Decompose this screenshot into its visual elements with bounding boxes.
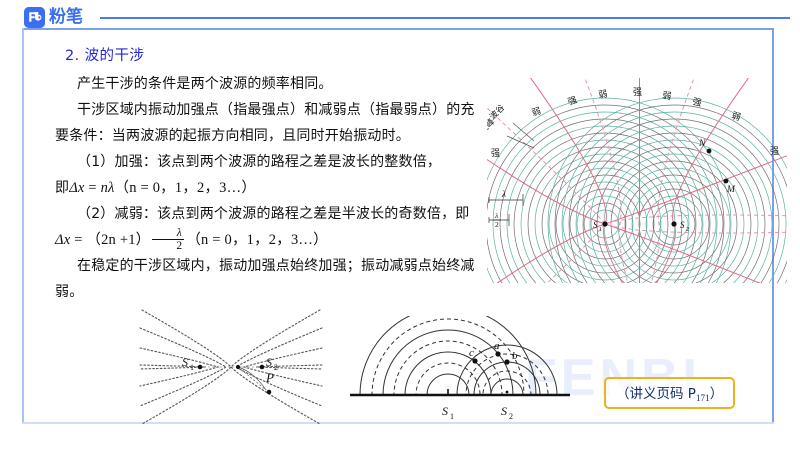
handout-page-reference: （讲义页码 P171） — [604, 377, 735, 409]
header-divider — [100, 17, 790, 19]
page-ref-suffix: ） — [710, 386, 724, 402]
semicircle-sub-2: 2 — [509, 412, 513, 421]
formula-1-condition: （n = 0，1，2，3…） — [115, 180, 256, 196]
paragraph-condition: 产生干涉的条件是两个波源的频率相同。 — [55, 71, 475, 97]
brand-logo: 粉笔 — [24, 7, 83, 28]
paragraph-stability: 在稳定的干涉区域内，振动加强点始终加强；振动减弱点始终减弱。 — [55, 253, 475, 305]
hyperbola-label-S2: S — [266, 355, 272, 369]
formula-2-coefficient: （2n +1） — [86, 232, 150, 248]
paragraph-attenuation: （2）减弱：该点到两个波源的路程之差是半波长的奇数倍，即 Δx = （2n +1… — [55, 201, 475, 253]
label-weak-left: 弱 — [531, 106, 543, 119]
fb-logo-icon — [24, 7, 45, 28]
section-heading: 2. 波的干涉 — [65, 44, 475, 65]
wavefront-semicircles-diagram: a b c S 1 S 2 — [348, 316, 573, 428]
label-weak-3: 弱 — [730, 110, 742, 123]
frame-border-left — [22, 28, 24, 424]
semicircle-label-S2: S — [501, 404, 507, 418]
formula-2-numerator: λ — [152, 227, 184, 240]
semicircle-sub-1: 1 — [450, 412, 454, 421]
label-strong-left: 强 — [491, 148, 500, 159]
hyperbola-sub-1: 1 — [190, 363, 194, 372]
lesson-text-column: 2. 波的干涉 产生干涉的条件是两个波源的频率相同。 干涉区域内振动加强点（指最… — [55, 44, 475, 305]
hyperbola-label-S1: S — [182, 355, 188, 369]
hyperbola-sub-2: 2 — [274, 363, 278, 372]
formula-2-fraction: λ2 — [152, 227, 184, 252]
hyperbola-label-P: P — [265, 370, 274, 385]
formula-reinforcement: 即Δx = nλ（n = 0，1，2，3…） — [55, 175, 475, 201]
label-strong-right: 强 — [770, 146, 779, 157]
page-ref-prefix: （讲义页码 P — [616, 386, 696, 402]
formula-1-equals: = — [88, 180, 96, 196]
point-label-M: M — [726, 185, 736, 195]
point-label-N: N — [698, 139, 706, 149]
formula-1-lead: 即 — [55, 180, 69, 196]
formula-2-denominator: 2 — [152, 240, 184, 252]
formula-1-lhs: Δx — [69, 180, 84, 196]
semicircle-label-S1: S — [442, 404, 448, 418]
paragraph-strong-weak-definition: 干涉区域内振动加强点（指最强点）和减弱点（指最弱点）的充要条件：当两波源的起振方… — [55, 97, 475, 149]
two-source-interference-pattern: S 1 S 2 N M 强 弱 强 弱 强 弱 强 弱 强 波 — [487, 78, 787, 283]
semicircle-point-b: b — [512, 350, 518, 362]
svg-text:S: S — [593, 220, 598, 230]
label-weak-2: 弱 — [662, 90, 672, 102]
semicircle-point-c: c — [469, 347, 474, 359]
svg-text:S: S — [680, 220, 685, 230]
svg-text:2: 2 — [686, 227, 689, 233]
hyperbolic-fringes-diagram: S 1 S 2 P — [138, 306, 324, 428]
formula-2-condition: （n = 0，1，2，3…） — [186, 232, 327, 248]
svg-text:1: 1 — [599, 227, 602, 233]
semicircle-point-a: a — [494, 340, 500, 352]
label-strong-2: 强 — [633, 87, 642, 98]
svg-text:λ: λ — [494, 211, 499, 220]
app-header: 粉笔 — [0, 0, 800, 34]
label-weak-1: 弱 — [598, 89, 609, 101]
brand-name: 粉笔 — [49, 7, 83, 28]
formula-1-rhs: nλ — [101, 180, 115, 196]
paragraph-reinforcement: （1）加强：该点到两个波源的路程之差是波长的整数倍， — [55, 149, 475, 175]
svg-text:2: 2 — [495, 220, 499, 229]
formula-2-equals: = — [74, 232, 82, 248]
paragraph-attenuation-text: （2）减弱：该点到两个波源的路程之差是半波长的奇数倍，即 — [77, 206, 470, 222]
formula-2-lhs: Δx — [55, 232, 70, 248]
label-strong-3: 强 — [691, 96, 702, 109]
page-ref-number: 171 — [696, 393, 710, 403]
wavelength-label: λ — [501, 189, 506, 199]
label-strong-1: 强 — [567, 95, 579, 108]
